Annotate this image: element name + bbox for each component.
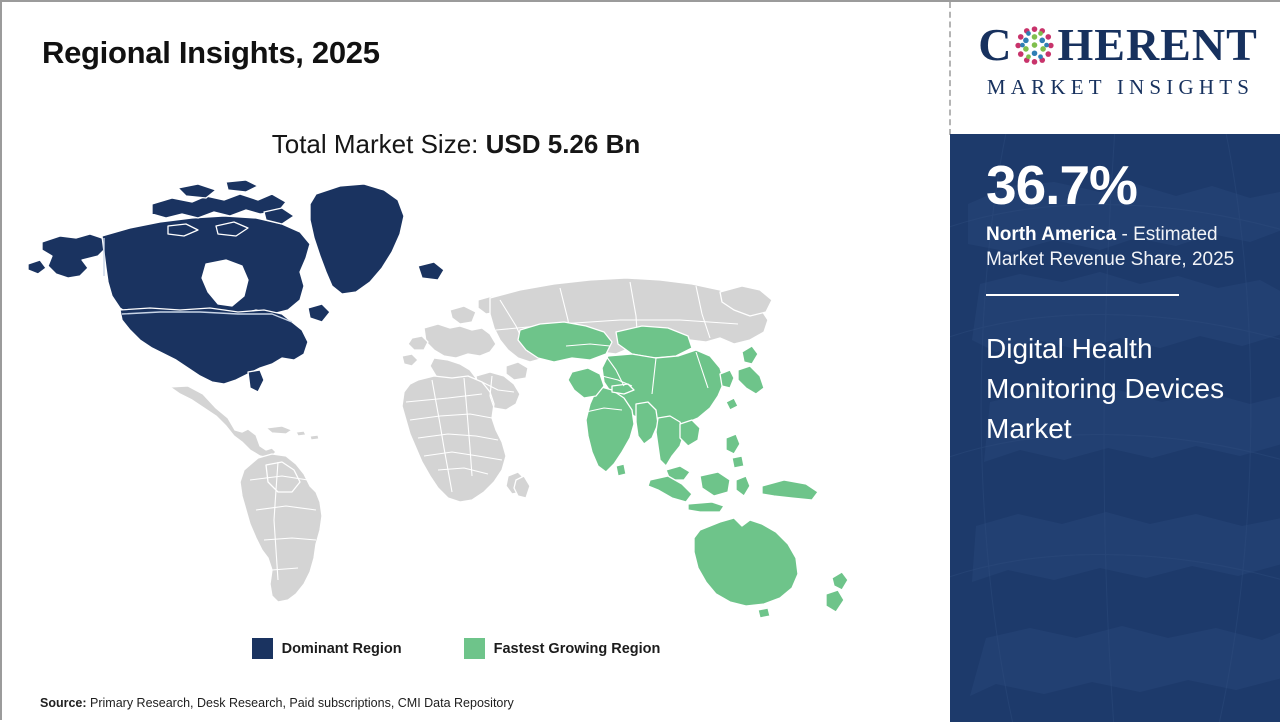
market-name: Digital Health Monitoring Devices Market xyxy=(986,329,1246,448)
logo-subtitle: MARKET INSIGHTS xyxy=(968,75,1268,100)
market-size-value: USD 5.26 Bn xyxy=(486,129,641,159)
green-square-icon xyxy=(464,638,485,659)
source-text: Primary Research, Desk Research, Paid su… xyxy=(87,696,514,710)
source-note: Source: Primary Research, Desk Research,… xyxy=(40,696,514,710)
map-region-fastest-growing xyxy=(518,322,848,618)
map-region-dominant xyxy=(28,180,444,392)
legend-item-dominant: Dominant Region xyxy=(252,638,402,659)
source-label: Source: xyxy=(40,696,87,710)
map-legend: Dominant Region Fastest Growing Region xyxy=(2,638,910,659)
page-title: Regional Insights, 2025 xyxy=(42,35,380,71)
left-content-pane: Regional Insights, 2025 Total Market Siz… xyxy=(2,2,950,722)
total-market-size: Total Market Size: USD 5.26 Bn xyxy=(2,129,910,160)
panel-content: 36.7% North America - Estimated Market R… xyxy=(950,158,1280,448)
legend-label-fastest-growing: Fastest Growing Region xyxy=(494,641,661,657)
share-region-name: North America xyxy=(986,224,1116,245)
world-map-svg xyxy=(20,180,920,620)
legend-item-fastest-growing: Fastest Growing Region xyxy=(464,638,661,659)
legend-label-dominant: Dominant Region xyxy=(282,641,402,657)
coherent-market-insights-logo: C xyxy=(968,16,1268,116)
logo-wordmark-row: C xyxy=(968,16,1268,74)
panel-horizontal-rule xyxy=(986,294,1179,296)
vertical-dashed-divider xyxy=(949,2,951,135)
share-value: 36.7% xyxy=(986,158,1246,213)
logo-word-right: HERENT xyxy=(1057,22,1257,68)
share-description: North America - Estimated Market Revenue… xyxy=(986,222,1246,272)
logo-word-left: C xyxy=(978,22,1012,68)
navy-square-icon xyxy=(252,638,273,659)
regional-highlight-panel: 36.7% North America - Estimated Market R… xyxy=(950,134,1280,722)
dotted-circle-icon xyxy=(1013,24,1056,67)
market-size-label: Total Market Size: xyxy=(272,129,479,159)
world-map xyxy=(20,180,920,620)
